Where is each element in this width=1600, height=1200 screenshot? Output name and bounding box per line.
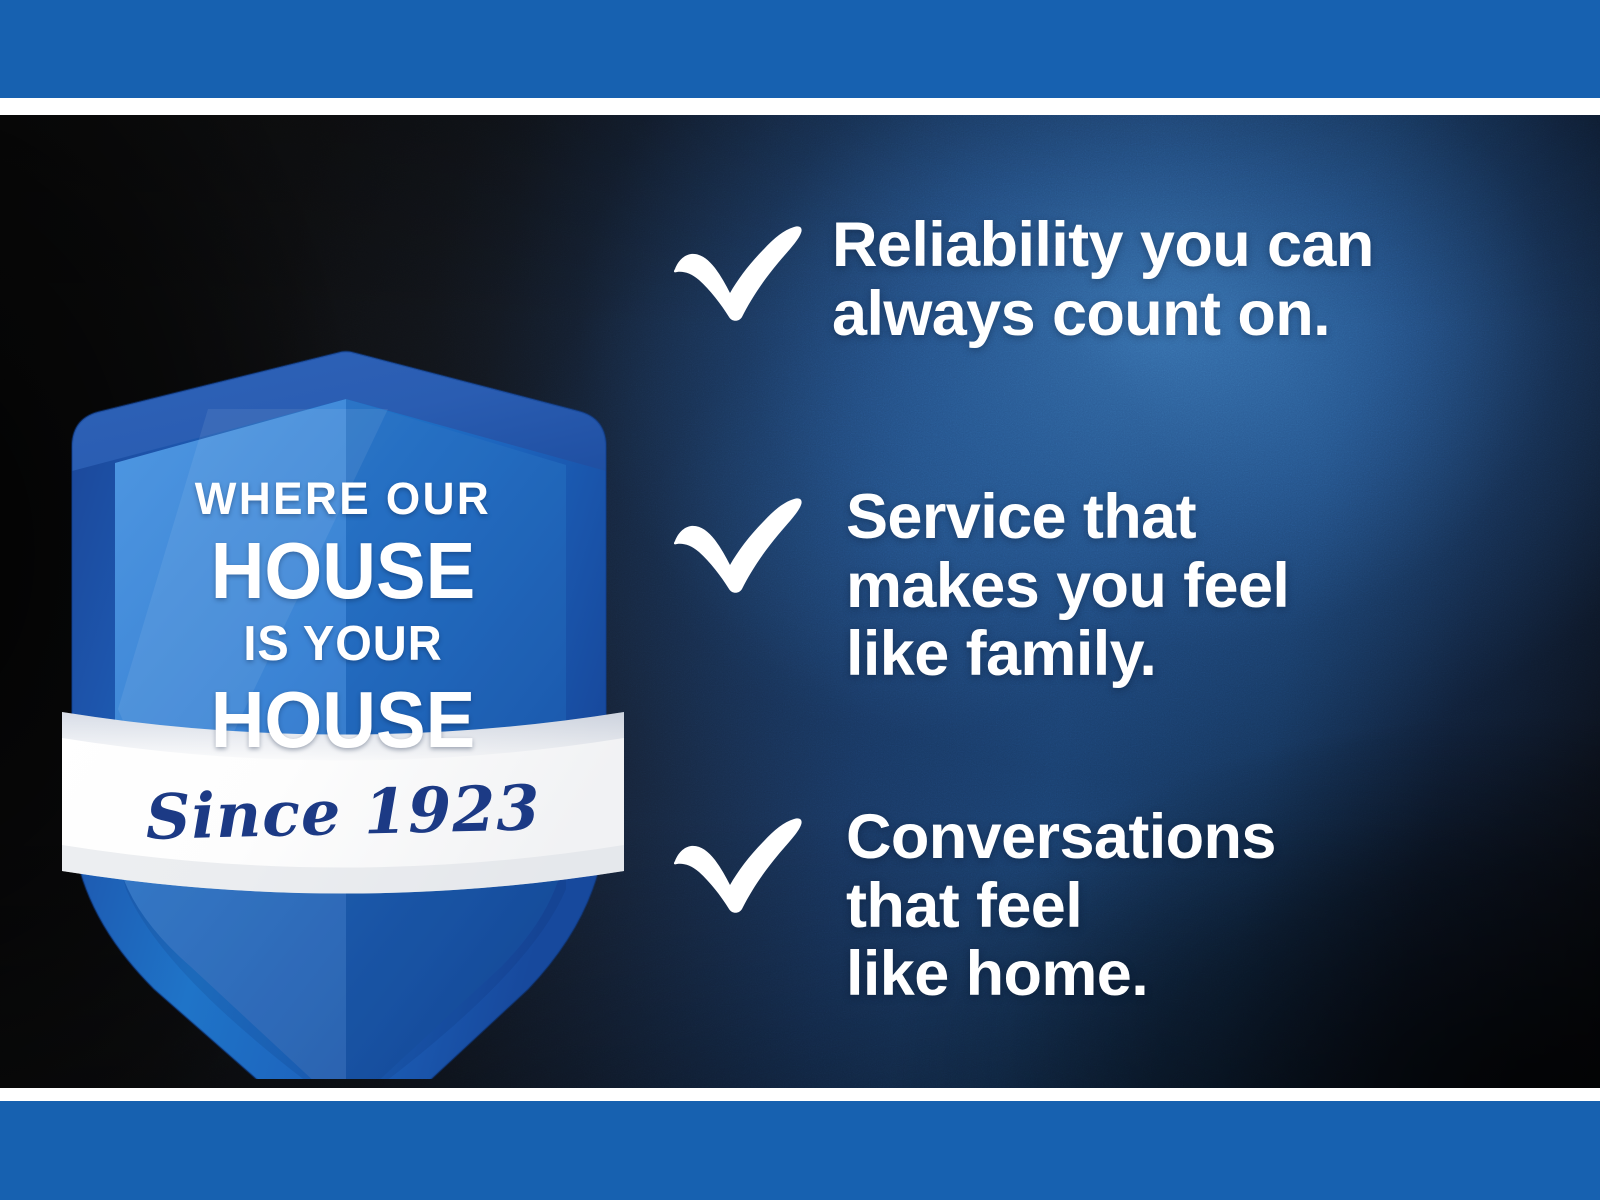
shield-badge: Where Our House Is Your House Since 1923 bbox=[58, 289, 628, 1079]
benefit-item-2: Service that makes you feel like family. bbox=[672, 483, 1289, 689]
benefit-item-1: Reliability you can always count on. bbox=[672, 211, 1374, 348]
shield-body bbox=[72, 350, 606, 1080]
badge-ribbon bbox=[62, 712, 624, 894]
bottom-white-divider bbox=[0, 1088, 1600, 1101]
check-icon bbox=[672, 497, 804, 593]
check-icon bbox=[672, 225, 804, 321]
top-brand-bar bbox=[0, 0, 1600, 98]
benefit-text-2: Service that makes you feel like family. bbox=[846, 483, 1289, 689]
benefit-text-3: Conversations that feel like home. bbox=[846, 803, 1276, 1009]
bottom-brand-bar bbox=[0, 1101, 1600, 1200]
check-icon bbox=[672, 817, 804, 913]
main-stage: Where Our House Is Your House Since 1923… bbox=[0, 115, 1600, 1088]
top-white-divider bbox=[0, 98, 1600, 115]
benefit-item-3: Conversations that feel like home. bbox=[672, 803, 1276, 1009]
promo-graphic: Where Our House Is Your House Since 1923… bbox=[0, 0, 1600, 1200]
benefit-text-1: Reliability you can always count on. bbox=[832, 211, 1374, 348]
